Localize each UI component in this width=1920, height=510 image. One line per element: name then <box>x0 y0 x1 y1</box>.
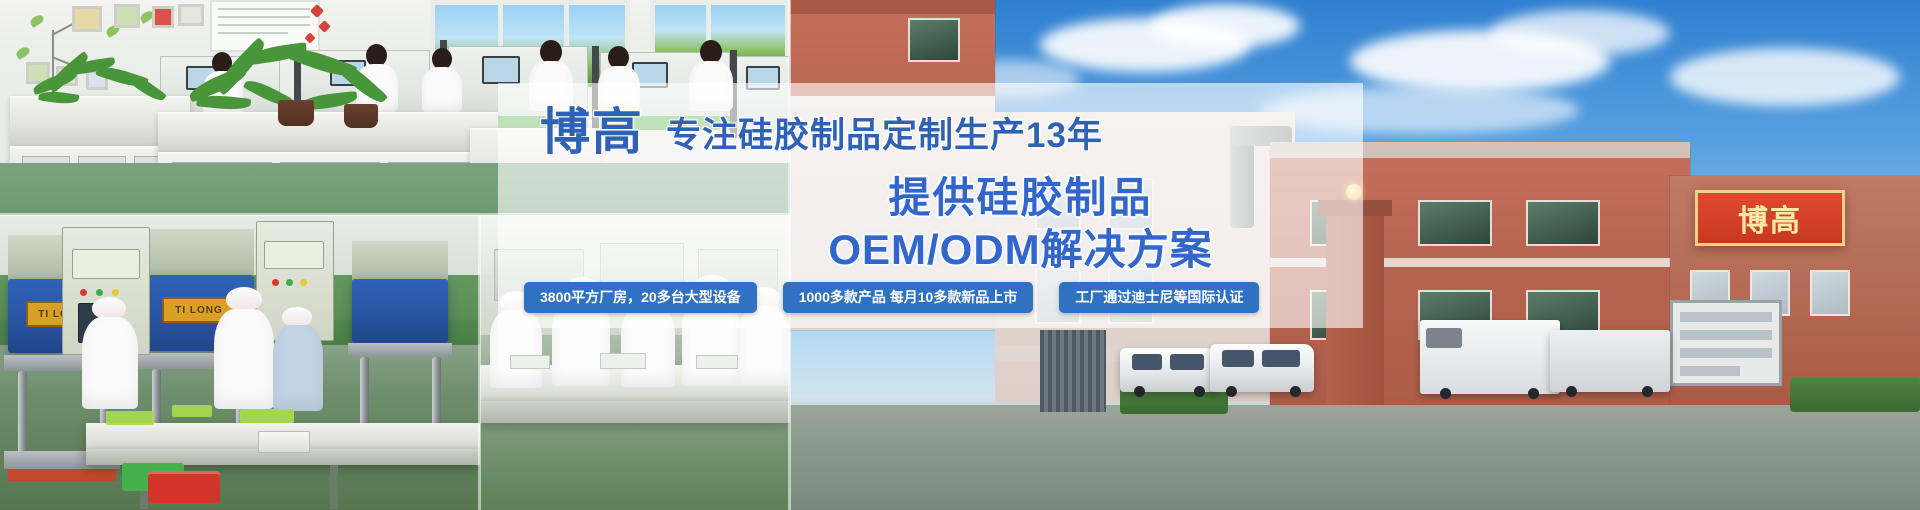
feature-badge-list: 3800平方厂房，20多台大型设备 1000多款产品 每月10多款新品上市 工厂… <box>524 282 1259 313</box>
brand-tagline: 专注硅胶制品定制生产13年 <box>666 118 1103 157</box>
promo-banner: 博高 <box>0 0 1920 510</box>
feature-badge-certification[interactable]: 工厂通过迪士尼等国际认证 <box>1059 282 1259 313</box>
company-sign-text: 博高 <box>1738 196 1802 240</box>
feature-badge-products[interactable]: 1000多款产品 每月10多款新品上市 <box>783 282 1034 313</box>
headline-line-1: 提供硅胶制品 <box>498 177 1363 219</box>
feature-badge-factory[interactable]: 3800平方厂房，20多台大型设备 <box>524 282 757 313</box>
headline-line-2: OEM/ODM解决方案 <box>498 229 1363 271</box>
headline-row-brand: 博高 专注硅胶制品定制生产13年 <box>540 107 1103 157</box>
collage-seam-vertical-2 <box>478 215 481 510</box>
photo-press-machines: TI LONG TI LONG <box>0 215 480 510</box>
brand-name: 博高 <box>540 107 644 157</box>
company-sign: 博高 <box>1695 190 1845 246</box>
